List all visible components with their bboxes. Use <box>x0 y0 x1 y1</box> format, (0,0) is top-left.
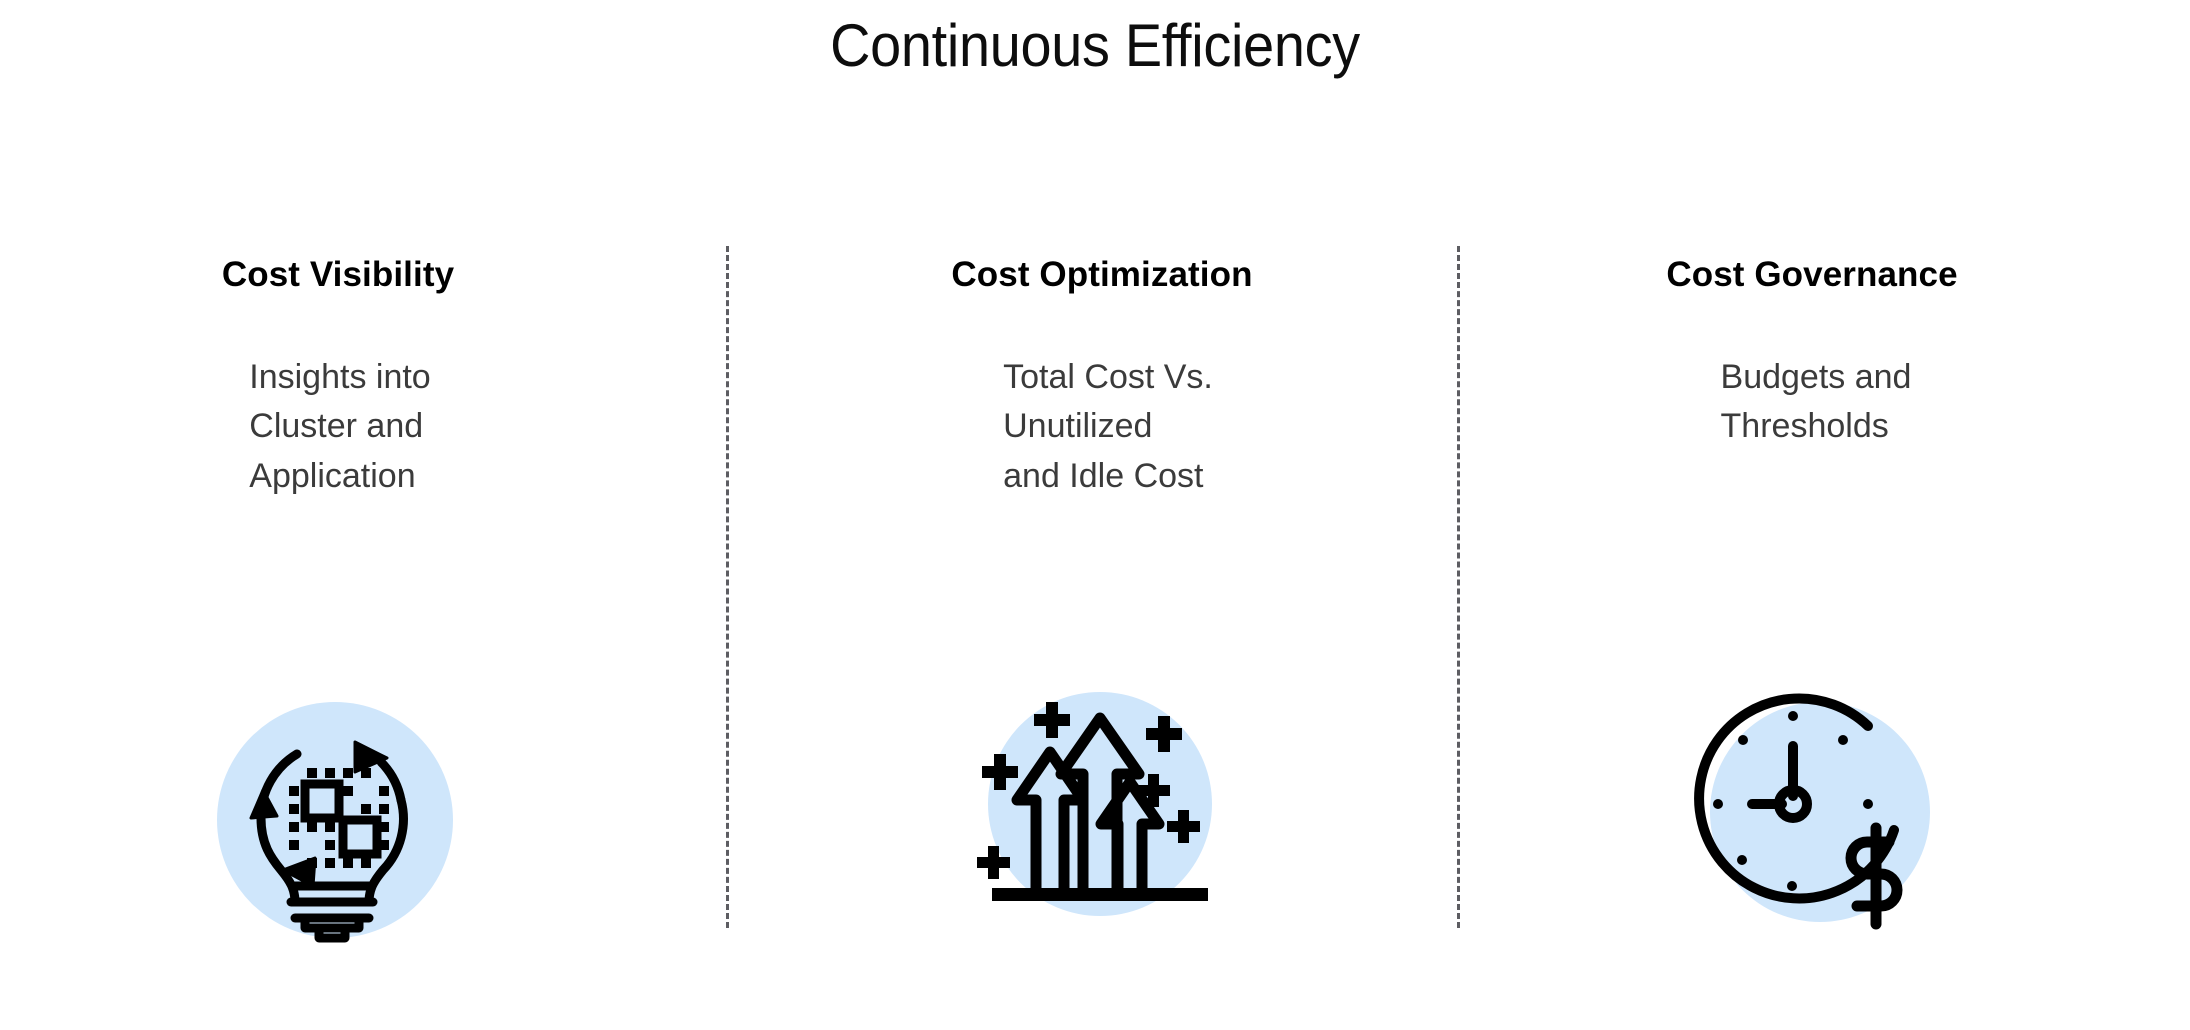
column-cost-governance: Cost Governance Budgets and Thresholds <box>1462 256 2162 452</box>
clock-dollar-icon <box>1680 678 1940 938</box>
column-cost-visibility: Cost Visibility Insights into Cluster an… <box>0 256 688 502</box>
body-line: Cluster and <box>249 402 430 452</box>
column-cost-optimization: Cost Optimization Total Cost Vs. Unutili… <box>752 256 1452 502</box>
body-line: Unutilized <box>1003 402 1213 452</box>
lightbulb-refresh-icon <box>205 690 465 950</box>
body-line: Total Cost Vs. <box>1003 353 1213 403</box>
column-body: Total Cost Vs. Unutilized and Idle Cost <box>1003 353 1213 503</box>
growth-arrows-icon <box>970 670 1230 930</box>
body-line: Thresholds <box>1721 402 1912 452</box>
column-heading: Cost Governance <box>1666 256 1957 295</box>
column-body: Budgets and Thresholds <box>1721 353 1912 453</box>
body-line: Budgets and <box>1721 353 1912 403</box>
body-line: Insights into <box>249 353 430 403</box>
column-body: Insights into Cluster and Application <box>249 353 430 503</box>
body-line: Application <box>249 452 430 502</box>
body-line: and Idle Cost <box>1003 452 1213 502</box>
column-heading: Cost Optimization <box>951 256 1252 295</box>
column-heading: Cost Visibility <box>222 256 454 295</box>
